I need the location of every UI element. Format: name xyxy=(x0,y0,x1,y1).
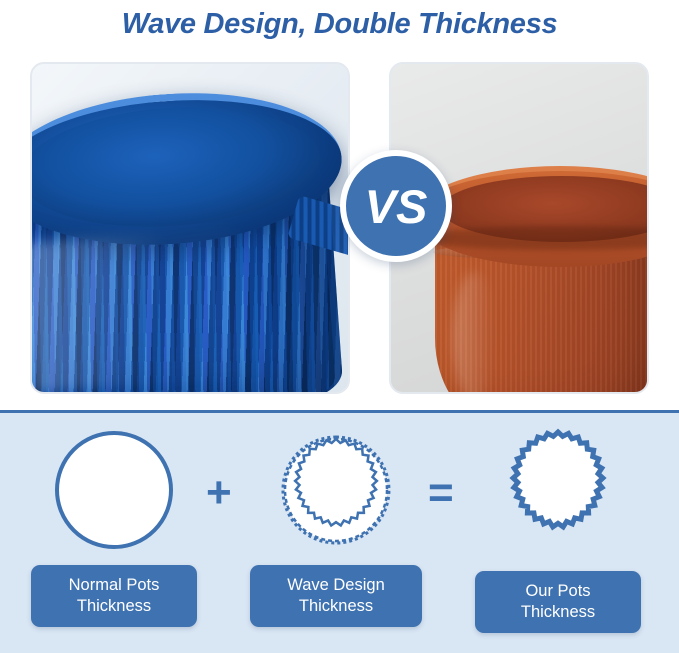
plus-operator: + xyxy=(206,471,232,515)
comparison-section: VS xyxy=(0,48,679,410)
formula-item-wave-design: Wave Design Thickness xyxy=(256,431,416,627)
our-pots-label: Our Pots Thickness xyxy=(475,571,641,633)
wave-circle-icon xyxy=(277,431,395,549)
formula-item-our-pots: Our Pots Thickness xyxy=(478,431,638,633)
wave-design-label-line1: Wave Design xyxy=(260,575,412,596)
thick-wave-circle-icon xyxy=(493,425,623,555)
wave-design-label-line2: Thickness xyxy=(260,596,412,617)
vs-badge: VS xyxy=(340,150,452,262)
blue-pot-illustration xyxy=(30,86,350,394)
thickness-formula-band: Normal Pots Thickness + xyxy=(0,410,679,653)
page-title: Wave Design, Double Thickness xyxy=(0,0,679,48)
normal-pots-label-line2: Thickness xyxy=(41,596,187,617)
our-pots-label-line1: Our Pots xyxy=(485,581,631,602)
blue-pot-highlight xyxy=(30,229,243,393)
normal-pots-label-line1: Normal Pots xyxy=(41,575,187,596)
formula-item-normal-pots: Normal Pots Thickness xyxy=(34,431,194,627)
wave-pot-photo xyxy=(30,62,350,394)
normal-pots-label: Normal Pots Thickness xyxy=(31,565,197,627)
terracotta-pot-illustration xyxy=(407,122,649,394)
equals-operator: = xyxy=(428,471,454,515)
plain-circle-icon xyxy=(55,431,173,549)
terracotta-pot-highlight xyxy=(453,272,495,394)
wave-design-label: Wave Design Thickness xyxy=(250,565,422,627)
our-pots-label-line2: Thickness xyxy=(485,602,631,623)
product-infographic: Wave Design, Double Thickness xyxy=(0,0,679,653)
